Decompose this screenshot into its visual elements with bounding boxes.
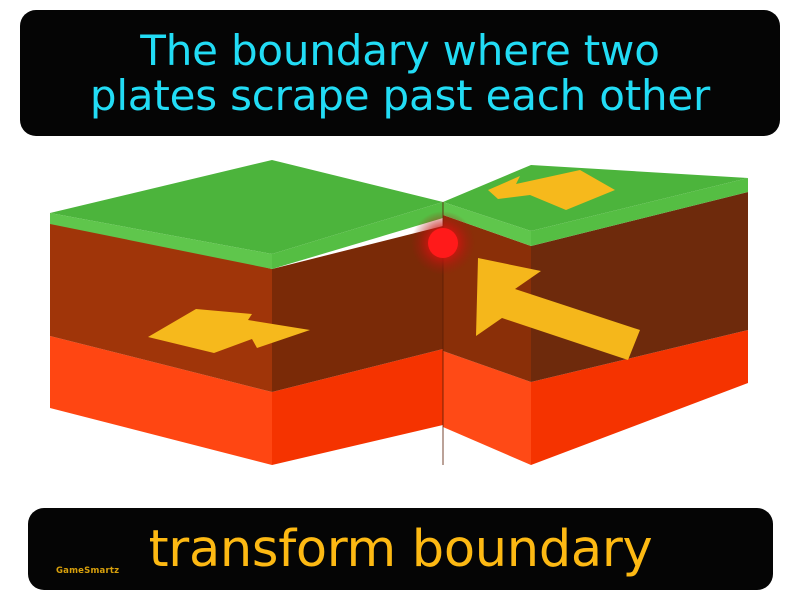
diagram-svg xyxy=(0,140,800,505)
plate-boundary-diagram xyxy=(0,140,800,505)
epicenter-icon xyxy=(428,228,458,258)
definition-text: The boundary where two plates scrape pas… xyxy=(90,28,710,119)
term-banner: transform boundary xyxy=(28,508,773,590)
definition-banner: The boundary where two plates scrape pas… xyxy=(20,10,780,136)
flashcard: The boundary where two plates scrape pas… xyxy=(0,0,800,600)
watermark: GameSmartz xyxy=(56,566,119,576)
term-text: transform boundary xyxy=(149,524,653,575)
